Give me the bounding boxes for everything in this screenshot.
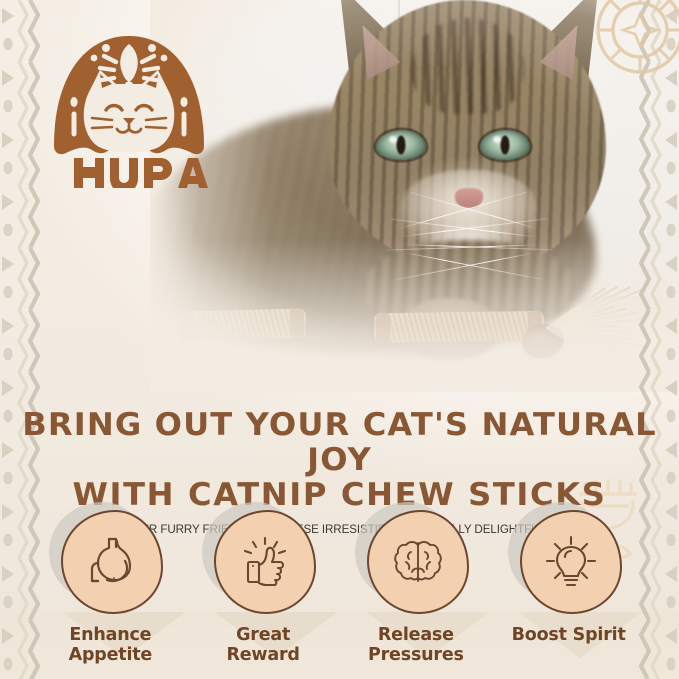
cat-face-arch-logo-icon (48, 22, 210, 188)
feature-badge (211, 508, 315, 612)
cat-eye-glint-left (389, 136, 397, 143)
cat-forehead-markings (412, 18, 524, 114)
feature-label: Great Reward (226, 626, 299, 665)
feature-item[interactable]: Enhance Appetite (34, 508, 187, 679)
feature-badge (364, 508, 468, 612)
badge-body (367, 510, 469, 614)
feature-label: Enhance Appetite (69, 626, 152, 665)
stomach-icon (87, 535, 137, 589)
chew-stick-left (178, 308, 307, 341)
feature-label: Boost Spirit (512, 626, 626, 646)
feature-list: Enhance Appetite Great Reward (34, 508, 645, 679)
chew-stick-right (374, 311, 544, 343)
stick-band (376, 313, 390, 343)
feature-label: Release Pressures (368, 626, 464, 665)
product-infographic-poster: BRING OUT YOUR CAT'S NATURAL JOY WITH CA… (0, 0, 679, 679)
ethnic-border-right (639, 0, 679, 679)
feature-item[interactable]: Great Reward (187, 508, 340, 679)
badge-body (61, 510, 163, 614)
cat-eye-left (376, 130, 426, 160)
sun-mandala-icon (585, 0, 679, 92)
feature-item[interactable]: Boost Spirit (492, 508, 645, 679)
feature-badge (517, 508, 621, 612)
cat-pupil-left (397, 136, 406, 155)
headline-line-1: BRING OUT YOUR CAT'S NATURAL JOY (22, 407, 656, 478)
thumbs-up-icon (238, 535, 292, 589)
raffia-tassel-left (150, 308, 184, 382)
raffia-tassel-right (546, 290, 654, 364)
lightbulb-icon (544, 535, 598, 589)
badge-body (214, 510, 316, 614)
cat-pupil-right (501, 136, 510, 155)
catnip-chew-sticks (150, 288, 679, 380)
cat-eye-glint-right (493, 136, 501, 143)
brand-logo[interactable] (48, 22, 210, 188)
brain-icon (392, 536, 444, 588)
page-title: BRING OUT YOUR CAT'S NATURAL JOY WITH CA… (0, 408, 679, 513)
feature-item[interactable]: Release Pressures (340, 508, 493, 679)
badge-body (520, 510, 622, 614)
feature-badge (58, 508, 162, 612)
stick-band (290, 308, 305, 338)
cat-eye-right (480, 130, 530, 160)
